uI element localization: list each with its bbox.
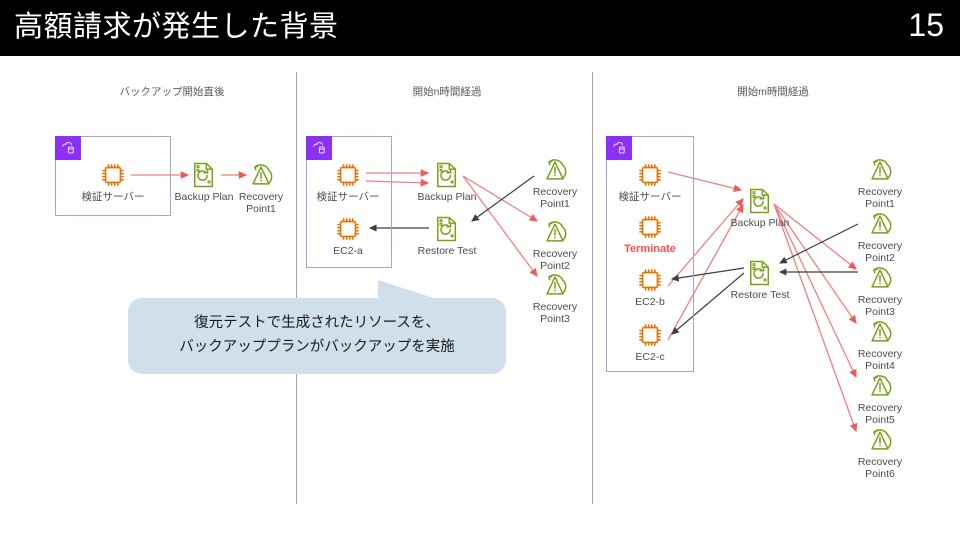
recovery-point-icon (835, 317, 925, 347)
recovery-point-icon (835, 209, 925, 239)
node-recovery-point4-col3[interactable]: Recovery Point4 (835, 317, 925, 372)
recovery-point-icon (510, 217, 600, 247)
node-label: Recovery Point3 (510, 301, 600, 325)
node-verification-server-col2[interactable]: 検証サーバー (303, 160, 393, 203)
recovery-point-icon (216, 160, 306, 190)
node-label: Recovery Point1 (510, 186, 600, 210)
backup-vault-icon (606, 136, 632, 160)
node-backup-plan-col2[interactable]: Backup Plan (402, 160, 492, 203)
node-label: Backup Plan (715, 217, 805, 229)
backup-vault-icon (55, 136, 81, 160)
recovery-point-icon (510, 155, 600, 185)
node-terminate-col3[interactable]: Terminate (605, 212, 695, 255)
node-recovery-point1-col1[interactable]: Recovery Point1 (216, 160, 306, 215)
restore-test-icon (402, 214, 492, 244)
node-label: Recovery Point4 (835, 348, 925, 372)
node-label: 検証サーバー (303, 191, 393, 203)
node-label: Restore Test (402, 245, 492, 257)
node-recovery-point3-col2[interactable]: Recovery Point3 (510, 270, 600, 325)
node-ec2-a-col2[interactable]: EC2-a (303, 214, 393, 257)
recovery-point-icon (835, 371, 925, 401)
recovery-point-icon (510, 270, 600, 300)
node-label: 検証サーバー (68, 191, 158, 203)
node-recovery-point2-col3[interactable]: Recovery Point2 (835, 209, 925, 264)
node-label: Recovery Point1 (216, 191, 306, 215)
column-header-1: バックアップ開始直後 (120, 84, 225, 99)
backup-plan-icon (715, 186, 805, 216)
node-verification-server-col1[interactable]: 検証サーバー (68, 160, 158, 203)
restore-test-icon (715, 258, 805, 288)
node-recovery-point1-col2[interactable]: Recovery Point1 (510, 155, 600, 210)
title-bar: 高額請求が発生した背景 15 (0, 0, 960, 56)
node-label: Recovery Point5 (835, 402, 925, 426)
node-recovery-point6-col3[interactable]: Recovery Point6 (835, 425, 925, 480)
node-label: Recovery Point2 (835, 240, 925, 264)
node-recovery-point1-col3[interactable]: Recovery Point1 (835, 155, 925, 210)
node-restore-test-col2[interactable]: Restore Test (402, 214, 492, 257)
node-label: Recovery Point3 (835, 294, 925, 318)
callout-text: 復元テストで生成されたリソースを、 バックアッププランがバックアップを実施 (128, 311, 506, 359)
ec2-icon (68, 160, 158, 190)
recovery-point-icon (835, 155, 925, 185)
page-title: 高額請求が発生した背景 (14, 7, 339, 47)
node-recovery-point2-col2[interactable]: Recovery Point2 (510, 217, 600, 272)
slide-root: 高額請求が発生した背景 15 バックアップ開始直後 開始n時間経過 開始m時間経… (0, 0, 960, 540)
callout-balloon: 復元テストで生成されたリソースを、 バックアッププランがバックアップを実施 (128, 298, 506, 374)
node-recovery-point5-col3[interactable]: Recovery Point5 (835, 371, 925, 426)
column-header-2: 開始n時間経過 (413, 84, 482, 99)
ec2-icon (605, 320, 695, 350)
node-label: Backup Plan (402, 191, 492, 203)
ec2-icon (605, 212, 695, 242)
node-label: Recovery Point1 (835, 186, 925, 210)
node-restore-test-col3[interactable]: Restore Test (715, 258, 805, 301)
node-label-terminate: Terminate (605, 243, 695, 255)
node-ec2-c-col3[interactable]: EC2-c (605, 320, 695, 363)
arrow-layer (0, 0, 960, 540)
column-header-3: 開始m時間経過 (737, 84, 809, 99)
node-recovery-point3-col3[interactable]: Recovery Point3 (835, 263, 925, 318)
ec2-icon (605, 160, 695, 190)
node-verification-server-col3[interactable]: 検証サーバー (605, 160, 695, 203)
node-label: Recovery Point6 (835, 456, 925, 480)
backup-vault-icon (306, 136, 332, 160)
callout-tail (378, 280, 440, 300)
node-label: EC2-a (303, 245, 393, 257)
node-label: Restore Test (715, 289, 805, 301)
ec2-icon (303, 214, 393, 244)
backup-plan-icon (402, 160, 492, 190)
node-ec2-b-col3[interactable]: EC2-b (605, 265, 695, 308)
node-label: Recovery Point2 (510, 248, 600, 272)
column-divider-1 (296, 72, 297, 504)
recovery-point-icon (835, 425, 925, 455)
ec2-icon (605, 265, 695, 295)
node-backup-plan-col3[interactable]: Backup Plan (715, 186, 805, 229)
node-label: 検証サーバー (605, 191, 695, 203)
ec2-icon (303, 160, 393, 190)
page-number: 15 (908, 2, 944, 48)
node-label: EC2-c (605, 351, 695, 363)
recovery-point-icon (835, 263, 925, 293)
node-label: EC2-b (605, 296, 695, 308)
